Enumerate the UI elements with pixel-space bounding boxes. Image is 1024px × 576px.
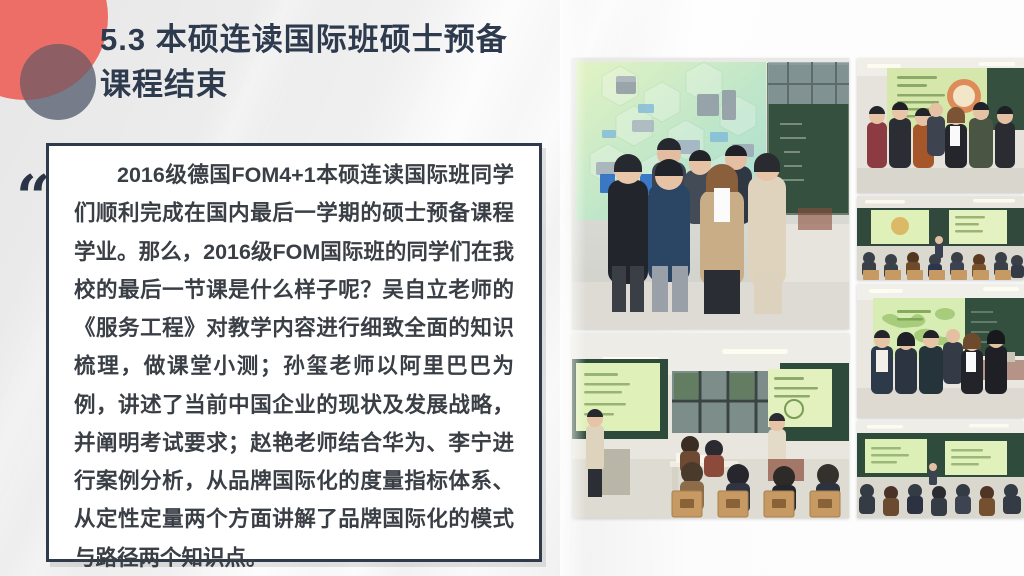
photo-group-photo-classroom-hexagon-screen[interactable] [572,58,849,329]
photo-classroom-lecture-wide[interactable] [572,333,849,518]
quote-body-text: 2016级德国FOM4+1本硕连读国际班同学们顺利完成在国内最后一学期的硕士预备… [74,156,514,576]
photo-lecture-hall-two-screens[interactable] [857,196,1024,280]
photo-collage [572,58,1024,518]
photo-group-photo-world-map-screen[interactable] [857,284,1024,418]
photo-group-photo-with-teacher[interactable] [857,58,1024,193]
photo-lecture-hall-audience[interactable] [857,421,1024,518]
quote-mark-icon: “ [16,168,49,228]
page-title-line-1: 5.3 本硕连读国际班硕士预备 [100,18,570,63]
page-title: 5.3 本硕连读国际班硕士预备 课程结束 [100,18,570,108]
presentation-slide: 5.3 本硕连读国际班硕士预备 课程结束 “ 2016级德国FOM4+1本硕连读… [0,0,1024,576]
decorative-circle-gray [20,44,96,120]
page-title-line-2: 课程结束 [100,63,570,108]
